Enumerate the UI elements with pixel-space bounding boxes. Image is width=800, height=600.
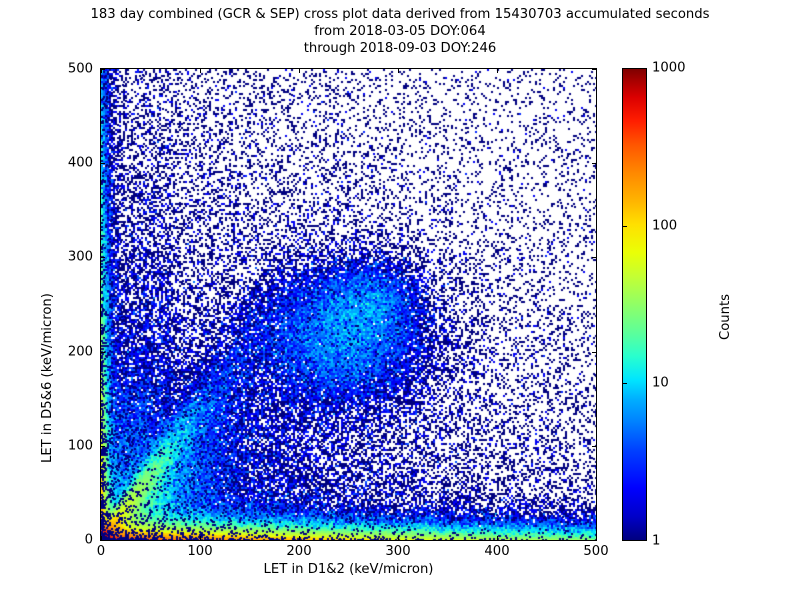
x-tick-400 (497, 536, 498, 540)
x-tick-500 (596, 69, 597, 73)
colorbar-gradient (622, 68, 647, 541)
x-tick-300 (398, 536, 399, 540)
x-tick-label-0: 0 (97, 544, 105, 559)
x-tick-200 (299, 536, 300, 540)
title-line-1: 183 day combined (GCR & SEP) cross plot … (0, 6, 800, 23)
colorbar-tick-label-10: 10 (652, 376, 669, 391)
y-tick-300 (101, 257, 105, 258)
x-tick-300 (398, 69, 399, 73)
y-tick-label-400: 400 (48, 156, 93, 171)
x-tick-label-500: 500 (583, 544, 608, 559)
title-line-2: from 2018-03-05 DOY:064 (0, 23, 800, 40)
colorbar (622, 68, 647, 541)
figure-title: 183 day combined (GCR & SEP) cross plot … (0, 6, 800, 57)
y-tick-400 (101, 163, 105, 164)
colorbar-tick-100 (622, 226, 627, 227)
y-tick-100 (592, 446, 596, 447)
heatmap-scatter-canvas (101, 69, 596, 540)
x-tick-100 (200, 69, 201, 73)
x-tick-500 (596, 536, 597, 540)
x-tick-100 (200, 536, 201, 540)
x-tick-label-200: 200 (286, 544, 311, 559)
x-axis-label: LET in D1&2 (keV/micron) (100, 562, 597, 577)
x-tick-400 (497, 69, 498, 73)
y-tick-200 (592, 352, 596, 353)
x-tick-label-400: 400 (484, 544, 509, 559)
x-tick-200 (299, 69, 300, 73)
y-tick-label-300: 300 (48, 250, 93, 265)
y-axis-label: LET in D5&6 (keV/micron) (40, 293, 55, 463)
figure-canvas: 183 day combined (GCR & SEP) cross plot … (0, 0, 800, 600)
y-tick-500 (592, 69, 596, 70)
x-tick-label-100: 100 (187, 544, 212, 559)
y-tick-400 (592, 163, 596, 164)
colorbar-tick-label-100: 100 (652, 219, 677, 234)
title-line-3: through 2018-09-03 DOY:246 (0, 40, 800, 57)
colorbar-tick-label-1000: 1000 (652, 61, 686, 76)
plot-area (100, 68, 597, 541)
y-tick-300 (592, 257, 596, 258)
y-tick-0 (592, 540, 596, 541)
y-tick-0 (101, 540, 105, 541)
colorbar-label: Counts (718, 294, 733, 340)
y-tick-100 (101, 446, 105, 447)
y-tick-label-0: 0 (48, 533, 93, 548)
y-tick-200 (101, 352, 105, 353)
y-tick-label-500: 500 (48, 62, 93, 77)
colorbar-tick-label-1: 1 (652, 534, 660, 549)
colorbar-tick-10 (622, 383, 627, 384)
y-tick-500 (101, 69, 105, 70)
x-tick-label-300: 300 (385, 544, 410, 559)
